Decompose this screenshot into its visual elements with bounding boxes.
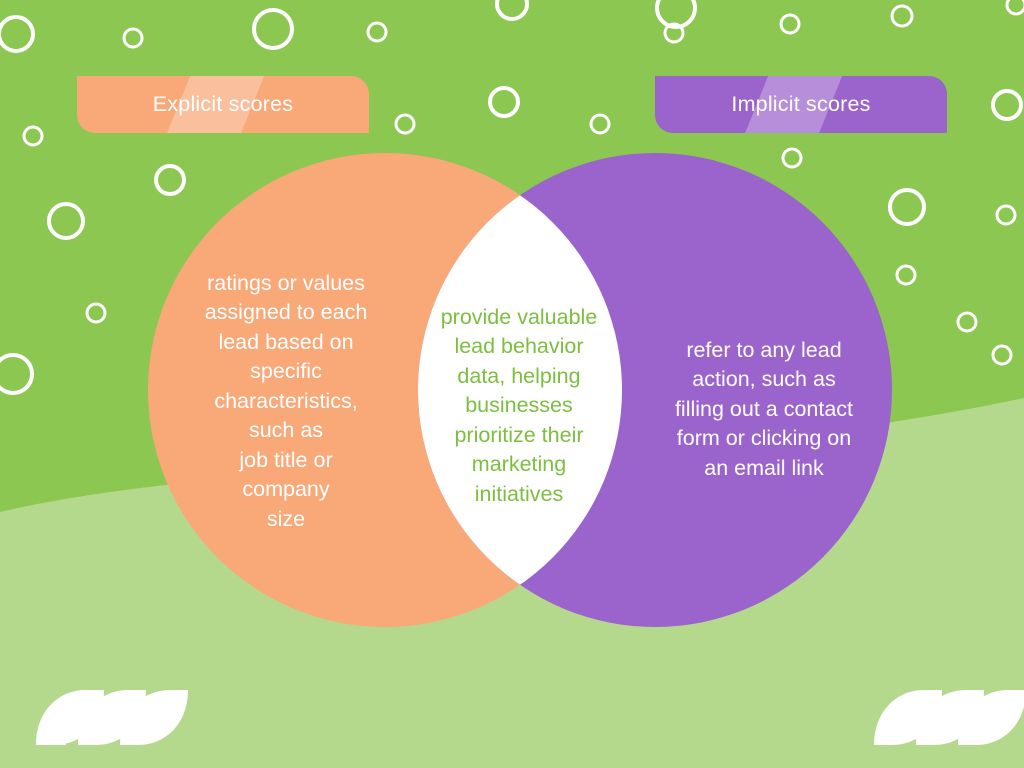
banner-implicit-scores[interactable]: Implicit scores [655,76,947,133]
decorative-stripes-left [54,682,200,742]
venn-left-text: ratings or values assigned to each lead … [182,269,390,534]
slide-canvas: Explicit scores Implicit scores ratings … [0,0,1024,768]
banner-right-label: Implicit scores [731,92,870,117]
banner-left-label: Explicit scores [153,92,293,117]
venn-overlap-text: provide valuable lead behavior data, hel… [424,303,614,509]
banner-explicit-scores[interactable]: Explicit scores [77,76,369,133]
venn-right-text: refer to any lead action, such as fillin… [652,336,876,483]
